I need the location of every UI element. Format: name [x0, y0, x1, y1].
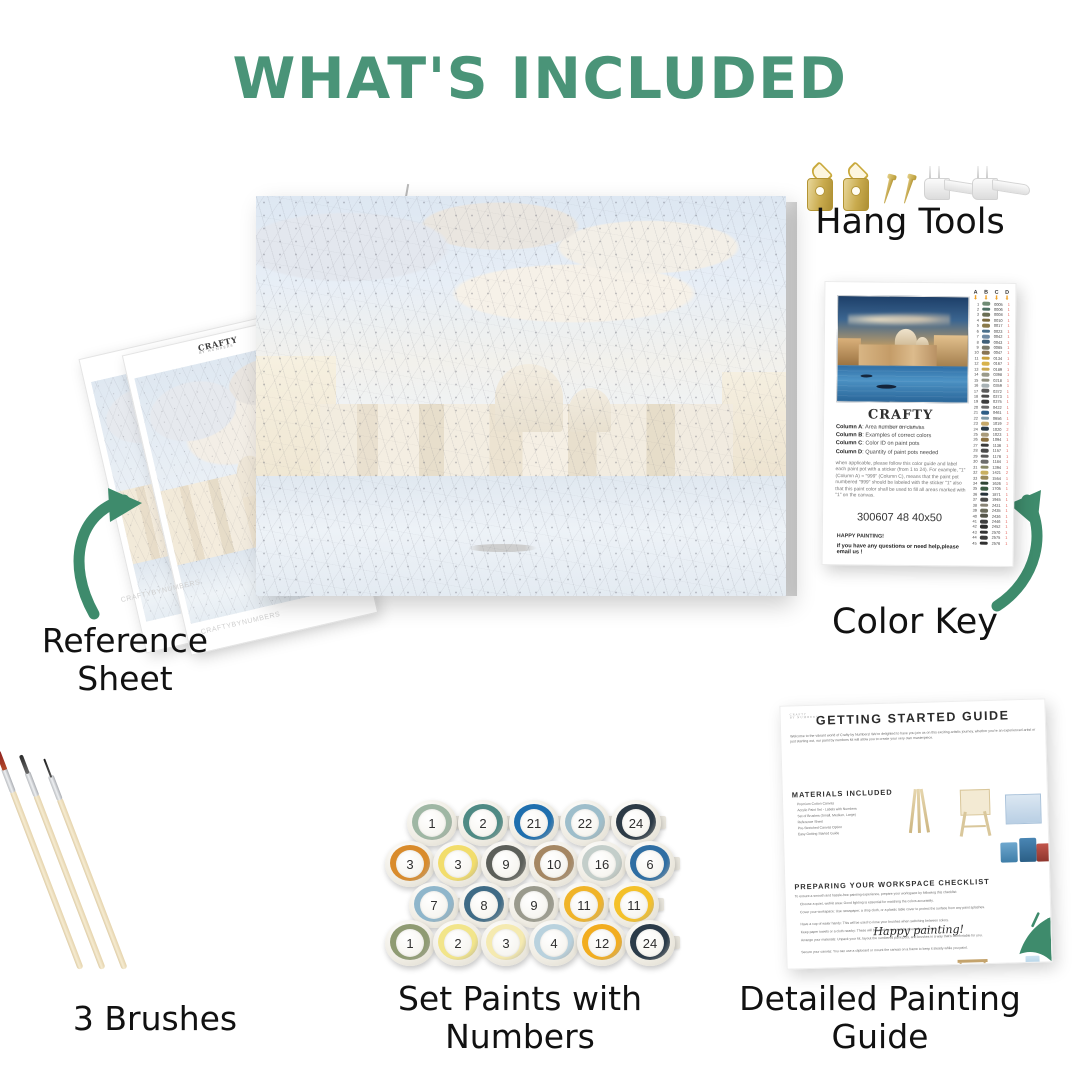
row-color-swatch [980, 394, 991, 398]
paint-pot[interactable]: 24 [625, 920, 675, 966]
color-key-row: 4525761 [968, 540, 1010, 546]
paint-pot-number-label: 24 [636, 929, 664, 957]
paint-pot-number-label: 3 [492, 929, 520, 957]
row-color-swatch [981, 313, 992, 317]
color-key-happy-painting: HAPPY PAINTING! [837, 533, 884, 539]
color-key-reference-photo [836, 295, 969, 403]
paint-pot-number-label: 21 [520, 809, 548, 837]
row-color-swatch [980, 373, 991, 377]
column-d-desc: Quantity of paint pots needed [865, 449, 938, 456]
row-color-swatch [979, 481, 990, 485]
row-quantity: 1 [1003, 541, 1010, 547]
caption-guide: Detailed Painting Guide [700, 980, 1060, 1056]
paint-pot-number-label: 11 [620, 891, 648, 919]
paint-pot[interactable]: 1 [407, 800, 457, 846]
paint-pot-number-label: 10 [540, 850, 568, 878]
paint-pot-number-label: 7 [420, 891, 448, 919]
row-color-swatch [980, 340, 991, 344]
row-color-swatch [979, 427, 990, 431]
row-color-swatch [979, 422, 990, 426]
row-color-swatch [980, 367, 991, 371]
canvas-face [256, 196, 786, 596]
paint-cans-illustration-icon [1000, 833, 1053, 866]
row-color-swatch [979, 416, 990, 420]
canvas-side-edge [786, 202, 797, 596]
frame-illustration-icon [1051, 778, 1053, 809]
guide-section-heading-0: MATERIALS INCLUDED [792, 788, 893, 800]
color-key-product-code: 300607 48 40x50 [830, 511, 969, 524]
row-color-swatch [981, 307, 992, 311]
paint-pot-number-label: 8 [470, 891, 498, 919]
paint-pot[interactable]: 1 [385, 920, 435, 966]
paint-pot-number-label: 3 [444, 850, 472, 878]
paint-pot-number-label: 1 [418, 809, 446, 837]
color-key-swatch-strip: A B C D ⬇ ⬇ ⬇ ⬇ 100051200061300081400101… [968, 290, 1013, 561]
paint-pot-number-label: 9 [492, 850, 520, 878]
row-color-swatch [980, 378, 991, 382]
color-key-card: CRAFTY BY NUMBERS Column A: Area number … [822, 281, 1017, 567]
paint-pot-number-label: 3 [396, 850, 424, 878]
paint-pot[interactable]: 4 [529, 920, 579, 966]
row-color-swatch [979, 503, 990, 507]
column-c-desc: Color ID on paint pots [865, 441, 919, 448]
wall-anchor-icon-2 [972, 168, 1028, 202]
paint-pot[interactable]: 3 [433, 841, 483, 887]
color-key-email-note: if you have any questions or need help,p… [837, 543, 967, 556]
paint-pot[interactable]: 2 [458, 800, 508, 846]
row-area-number: 45 [968, 540, 978, 546]
paint-pot-number-label: 4 [540, 929, 568, 957]
column-b-desc: Examples of correct colors [865, 433, 931, 440]
main-canvas [256, 196, 786, 596]
row-color-swatch [978, 530, 989, 534]
paint-pot[interactable]: 6 [625, 841, 675, 887]
row-color-swatch [979, 471, 990, 475]
row-color-swatch [980, 329, 991, 333]
paint-pot-number-label: 24 [622, 809, 650, 837]
color-key-brand-name: CRAFTY [868, 407, 934, 423]
paint-pot-number-label: 1 [396, 929, 424, 957]
row-color-swatch [980, 351, 991, 355]
screw-icon-2 [900, 173, 917, 204]
paint-pot-number-label: 16 [588, 850, 616, 878]
row-color-swatch [980, 389, 991, 393]
caption-brushes: 3 Brushes [35, 1000, 275, 1038]
row-color-swatch [978, 520, 989, 524]
arrow-to-reference-sheet [72, 486, 202, 621]
arrow-down-icon-b: ⬇ [981, 296, 992, 301]
row-color-swatch [979, 411, 990, 415]
paint-pot-number-label: 22 [571, 809, 599, 837]
row-color-swatch [980, 362, 991, 366]
paintbrush-large [0, 748, 84, 970]
column-c-label: Column C [836, 441, 862, 447]
color-key-column-legend: Column A: Area number on canvas Column B… [836, 423, 968, 457]
row-color-swatch [980, 324, 991, 328]
row-color-swatch [980, 346, 991, 350]
paint-pot-number-label: 2 [469, 809, 497, 837]
row-color-swatch [978, 514, 989, 518]
row-color-swatch [978, 536, 989, 540]
paint-pot[interactable]: 21 [509, 800, 559, 846]
paint-pot[interactable]: 10 [529, 841, 579, 887]
row-color-swatch [979, 487, 990, 491]
page-title: WHAT'S INCLUDED [0, 46, 1080, 112]
row-color-swatch [979, 498, 990, 502]
row-color-swatch [979, 454, 990, 458]
row-color-swatch [979, 465, 990, 469]
row-color-swatch [979, 438, 990, 442]
color-key-instructions: when applicable, please follow this colo… [835, 461, 967, 501]
color-key-row-list: 1000512000613000814001015001716002317004… [968, 301, 1013, 546]
paint-pot[interactable]: 16 [577, 841, 627, 887]
column-b-label: Column B [836, 432, 862, 438]
row-color-swatch [979, 492, 990, 496]
infographic-root: WHAT'S INCLUDED CRAFTY BY NUMBERS CRAFTY… [0, 0, 1080, 1080]
paint-pot[interactable]: 22 [560, 800, 610, 846]
column-a-desc: Area number on canvas [865, 424, 924, 431]
row-color-swatch [978, 525, 989, 529]
screw-icon-1 [880, 173, 897, 204]
paint-pot[interactable]: 12 [577, 920, 627, 966]
table-illustration-icon [958, 959, 988, 970]
caption-paints: Set Paints with Numbers [355, 980, 685, 1056]
row-color-swatch [978, 509, 989, 513]
paintbrush-medium [18, 754, 106, 970]
paint-pot-number-label: 11 [570, 891, 598, 919]
row-color-swatch [978, 541, 989, 545]
row-color-swatch [979, 443, 990, 447]
caption-hang-tools: Hang Tools [790, 203, 1030, 241]
brush-set [70, 735, 285, 970]
getting-started-guide: CRAFTY BY NUMBERS GETTING STARTED GUIDE … [779, 698, 1052, 969]
row-color-swatch [980, 318, 991, 322]
caption-color-key: Color Key [790, 603, 1040, 641]
guide-title: GETTING STARTED GUIDE [781, 707, 1045, 728]
paint-pot[interactable]: 24 [611, 800, 661, 846]
row-color-swatch [980, 405, 991, 409]
leaf-decoration-icon [998, 909, 1051, 962]
paint-pot-number-label: 6 [636, 850, 664, 878]
row-color-swatch [980, 356, 991, 360]
row-color-swatch [979, 460, 990, 464]
row-color-id: 2576 [989, 540, 1003, 546]
row-color-swatch [980, 400, 991, 404]
column-a-label: Column A [836, 424, 862, 430]
paintbrush-small [42, 760, 128, 970]
row-color-swatch [979, 433, 990, 437]
paint-pot[interactable]: 2 [433, 920, 483, 966]
paint-pot[interactable]: 9 [481, 841, 531, 887]
paint-pot-number-label: 12 [588, 929, 616, 957]
paint-pot[interactable]: 3 [481, 920, 531, 966]
row-color-swatch [980, 384, 991, 388]
row-color-swatch [980, 335, 991, 339]
paint-pot[interactable]: 3 [385, 841, 435, 887]
column-d-label: Column D [836, 449, 862, 455]
row-color-swatch [979, 476, 990, 480]
caption-reference-sheet: Reference Sheet [0, 622, 250, 698]
row-color-swatch [981, 302, 992, 306]
row-color-swatch [979, 449, 990, 453]
paint-pot-grid: 1221222433910166789111112341224 [385, 800, 675, 965]
guide-intro: Welcome to the vibrant world of Crafty b… [790, 728, 1036, 745]
paint-pot-number-label: 9 [520, 891, 548, 919]
paint-pot-number-label: 2 [444, 929, 472, 957]
